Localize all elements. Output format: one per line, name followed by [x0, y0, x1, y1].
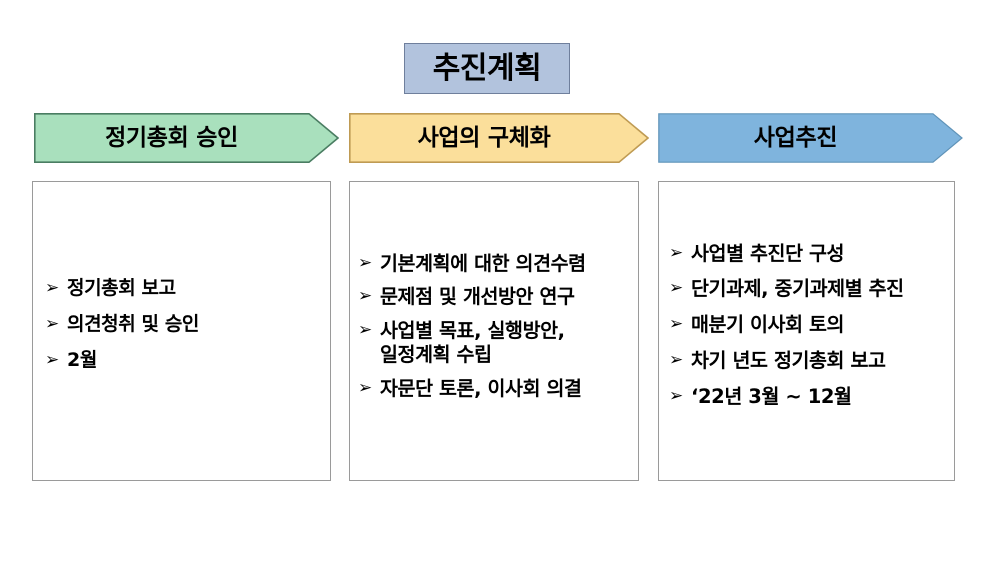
list-item: ➢ 자문단 토론, 이사회 의결 — [358, 377, 638, 401]
process-stage-1: 정기총회 승인 ➢ 정기총회 보고 ➢ 의견청취 및 승인 ➢ 2월 — [34, 113, 339, 163]
arrow-bullet-icon: ➢ — [358, 252, 380, 274]
stage-2-bullet-list: ➢ 기본계획에 대한 의견수렴 ➢ 문제점 및 개선방안 연구 ➢ 사업별 목표… — [350, 252, 638, 411]
arrow-bullet-icon: ➢ — [45, 349, 67, 371]
stage-3-content-box: ➢ 사업별 추진단 구성 ➢ 단기과제, 중기과제별 추진 ➢ 매분기 이사회 … — [658, 181, 955, 481]
arrow-bullet-icon: ➢ — [669, 242, 691, 264]
list-item: ➢ 기본계획에 대한 의견수렴 — [358, 252, 638, 276]
process-stage-2: 사업의 구체화 ➢ 기본계획에 대한 의견수렴 ➢ 문제점 및 개선방안 연구 … — [349, 113, 649, 163]
chevron-arrow-icon — [349, 113, 649, 163]
list-item: ➢ 단기과제, 중기과제별 추진 — [669, 277, 954, 301]
stage-1-chevron-header: 정기총회 승인 — [34, 113, 339, 163]
arrow-bullet-icon: ➢ — [358, 319, 380, 341]
stage-1-bullet-list: ➢ 정기총회 보고 ➢ 의견청취 및 승인 ➢ 2월 — [33, 277, 330, 386]
stage-2-chevron-header: 사업의 구체화 — [349, 113, 649, 163]
arrow-bullet-icon: ➢ — [669, 385, 691, 407]
list-item: ➢ 정기총회 보고 — [45, 277, 330, 300]
stage-3-bullet-list: ➢ 사업별 추진단 구성 ➢ 단기과제, 중기과제별 추진 ➢ 매분기 이사회 … — [659, 242, 954, 421]
arrow-bullet-icon: ➢ — [45, 277, 67, 299]
arrow-bullet-icon: ➢ — [669, 349, 691, 371]
arrow-bullet-icon: ➢ — [358, 285, 380, 307]
list-item: ➢ 의견청취 및 승인 — [45, 313, 330, 336]
arrow-bullet-icon: ➢ — [358, 377, 380, 399]
list-item: ➢ 매분기 이사회 토의 — [669, 313, 954, 337]
list-item: ➢ 사업별 목표, 실행방안, 일정계획 수립 — [358, 319, 638, 367]
list-item: ➢ 2월 — [45, 349, 330, 372]
chevron-arrow-icon — [658, 113, 963, 163]
process-stage-3: 사업추진 ➢ 사업별 추진단 구성 ➢ 단기과제, 중기과제별 추진 ➢ 매분기… — [658, 113, 963, 163]
arrow-bullet-icon: ➢ — [669, 277, 691, 299]
stage-1-content-box: ➢ 정기총회 보고 ➢ 의견청취 및 승인 ➢ 2월 — [32, 181, 331, 481]
stage-2-content-box: ➢ 기본계획에 대한 의견수렴 ➢ 문제점 및 개선방안 연구 ➢ 사업별 목표… — [349, 181, 639, 481]
slide-title-box: 추진계획 — [404, 43, 570, 94]
arrow-bullet-icon: ➢ — [45, 313, 67, 335]
arrow-bullet-icon: ➢ — [669, 313, 691, 335]
list-item: ➢ 사업별 추진단 구성 — [669, 242, 954, 266]
page-title: 추진계획 — [433, 54, 541, 84]
list-item: ➢ ‘22년 3월 ~ 12월 — [669, 385, 954, 409]
chevron-arrow-icon — [34, 113, 339, 163]
list-item: ➢ 문제점 및 개선방안 연구 — [358, 285, 638, 309]
list-item: ➢ 차기 년도 정기총회 보고 — [669, 349, 954, 373]
stage-3-chevron-header: 사업추진 — [658, 113, 963, 163]
